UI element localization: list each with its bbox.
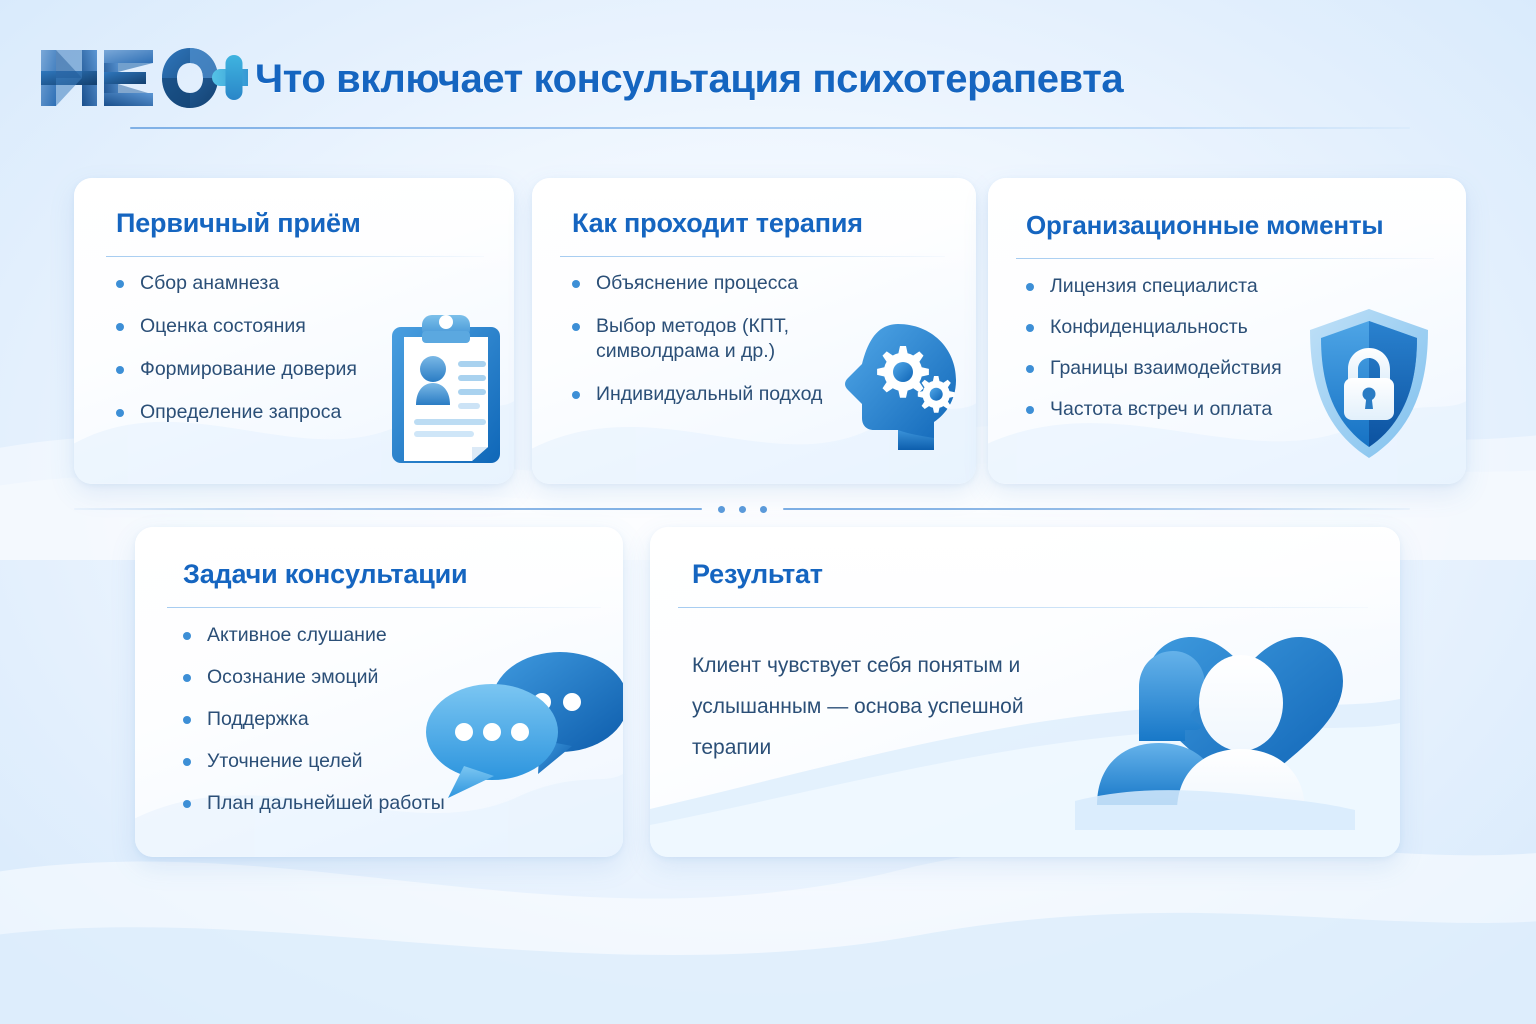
list-item-label: Индивидуальный подход: [596, 383, 822, 405]
list-item-label: Лицензия специалиста: [1050, 275, 1258, 297]
list-item: Сбор анамнеза: [114, 271, 444, 296]
divider-segment-right: [783, 508, 1411, 510]
list-item: Определение запроса: [114, 400, 444, 425]
bullet-dot-icon: [572, 323, 580, 331]
card-result: Результат Клиент чувствует себя понятым …: [650, 527, 1400, 857]
list-item: Выбор методов (КПТ, символдрама и др.): [570, 314, 860, 364]
bullet-dot-icon: [116, 323, 124, 331]
card-organizational: Организационные моменты Лицензия специал…: [988, 178, 1466, 484]
card-title: Как проходит терапия: [572, 208, 863, 239]
list-item: Активное слушание: [181, 623, 511, 648]
card-title: Первичный приём: [116, 208, 361, 239]
list-item-label: План дальнейшей работы: [207, 792, 445, 814]
card-title: Задачи консультации: [183, 559, 467, 590]
header-divider: [130, 127, 1410, 129]
list-item: Индивидуальный подход: [570, 382, 860, 407]
bullet-list: Лицензия специалиста Конфиденциальность …: [1024, 274, 1344, 422]
list-item-label: Границы взаимодействия: [1050, 357, 1282, 379]
header: Что включает консультация психотерапевта: [0, 0, 1536, 140]
bullet-dot-icon: [183, 632, 191, 640]
list-item-label: Частота встреч и оплата: [1050, 398, 1272, 420]
row-divider: [74, 503, 1410, 515]
bullet-dot-icon: [116, 409, 124, 417]
result-body-text: Клиент чувствует себя понятым и услышанн…: [692, 645, 1092, 768]
list-item-label: Формирование доверия: [140, 358, 357, 380]
list-item-label: Поддержка: [207, 708, 309, 730]
list-item-label: Объяснение процесса: [596, 272, 798, 294]
list-item: Частота встреч и оплата: [1024, 397, 1344, 422]
list-item: Оценка состояния: [114, 314, 444, 339]
list-item: Границы взаимодействия: [1024, 356, 1344, 381]
list-item-label: Уточнение целей: [207, 750, 362, 772]
list-item: Уточнение целей: [181, 749, 511, 774]
list-item: Объяснение процесса: [570, 271, 860, 296]
card-title-divider: [678, 607, 1368, 608]
bullet-list: Активное слушание Осознание эмоций Подде…: [181, 623, 511, 816]
card-consultation-tasks: Задачи консультации Активное слушание Ос…: [135, 527, 623, 857]
divider-dot-icon: [760, 506, 767, 513]
card-therapy-process: Как проходит терапия Объяснение процесса…: [532, 178, 976, 484]
neo-plus-logo: [38, 44, 248, 112]
divider-dots: [702, 506, 783, 513]
list-item: План дальнейшей работы: [181, 791, 511, 816]
list-item-label: Сбор анамнеза: [140, 272, 279, 294]
page-title: Что включает консультация психотерапевта: [255, 57, 1123, 102]
card-title-divider: [560, 256, 945, 257]
divider-dot-icon: [739, 506, 746, 513]
heart-people-icon: [1075, 615, 1355, 830]
card-title: Организационные моменты: [1026, 210, 1383, 241]
card-title-divider: [106, 256, 484, 257]
list-item-label: Оценка состояния: [140, 315, 306, 337]
bullet-dot-icon: [183, 800, 191, 808]
bullet-list: Объяснение процесса Выбор методов (КПТ, …: [570, 271, 860, 407]
divider-segment-left: [74, 508, 702, 510]
bullet-dot-icon: [572, 391, 580, 399]
list-item: Формирование доверия: [114, 357, 444, 382]
bullet-dot-icon: [183, 716, 191, 724]
bullet-dot-icon: [1026, 365, 1034, 373]
list-item-label: Определение запроса: [140, 401, 341, 423]
infographic-canvas: Что включает консультация психотерапевта…: [0, 0, 1536, 1024]
list-item-label: Активное слушание: [207, 624, 387, 646]
card-title-divider: [1016, 258, 1434, 259]
list-item: Поддержка: [181, 707, 511, 732]
list-item: Лицензия специалиста: [1024, 274, 1344, 299]
bullet-dot-icon: [183, 674, 191, 682]
bullet-dot-icon: [116, 280, 124, 288]
list-item-label: Осознание эмоций: [207, 666, 378, 688]
bullet-list: Сбор анамнеза Оценка состояния Формирова…: [114, 271, 444, 425]
card-title: Результат: [692, 559, 823, 590]
card-primary-intake: Первичный приём Сбор анамнеза Оценка сос…: [74, 178, 514, 484]
bullet-dot-icon: [1026, 324, 1034, 332]
list-item-label: Выбор методов (КПТ, символдрама и др.): [596, 315, 789, 362]
list-item: Конфиденциальность: [1024, 315, 1344, 340]
bullet-dot-icon: [183, 758, 191, 766]
divider-dot-icon: [718, 506, 725, 513]
list-item: Осознание эмоций: [181, 665, 511, 690]
bullet-dot-icon: [572, 280, 580, 288]
list-item-label: Конфиденциальность: [1050, 316, 1248, 338]
card-title-divider: [167, 607, 601, 608]
bullet-dot-icon: [116, 366, 124, 374]
bullet-dot-icon: [1026, 406, 1034, 414]
bullet-dot-icon: [1026, 283, 1034, 291]
